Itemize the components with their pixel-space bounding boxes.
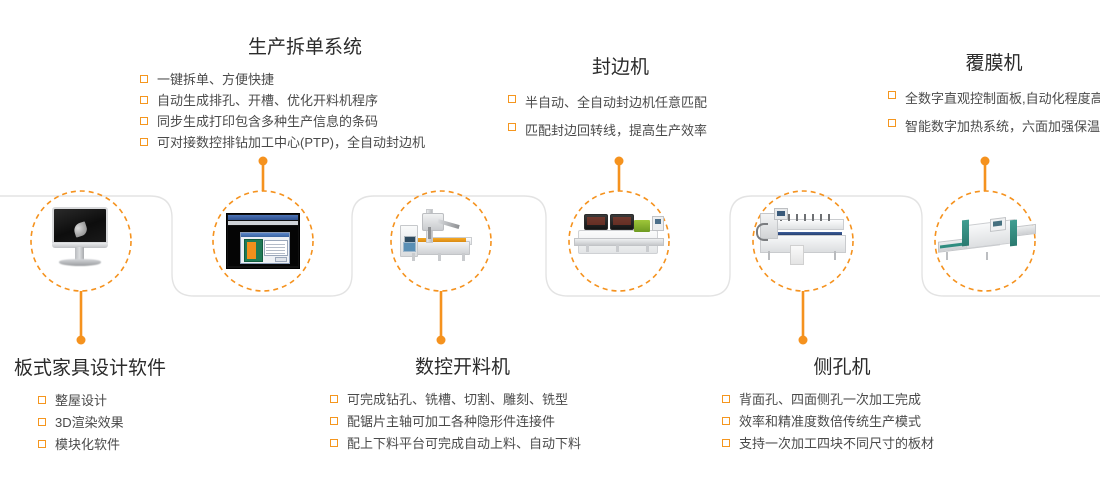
bullet-item: 半自动、全自动封边机任意匹配 xyxy=(508,89,733,117)
dot-side-hole-machine xyxy=(799,336,808,345)
bullet-item: 效率和精准度数倍传统生产模式 xyxy=(722,411,962,433)
node-title-production-splitting-system: 生产拆单系统 xyxy=(140,36,470,60)
checkbox-icon xyxy=(140,117,148,125)
node-title-laminating-machine: 覆膜机 xyxy=(888,52,1100,76)
bullet-text: 全数字直观控制面板,自动化程度高 xyxy=(905,91,1100,106)
bullet-text: 支持一次加工四块不同尺寸的板材 xyxy=(739,436,934,451)
text-block-design-software: 板式家具设计软件 整屋设计 3D渲染效果 模块化软件 xyxy=(14,357,224,456)
bullet-text: 背面孔、四面侧孔一次加工完成 xyxy=(739,392,921,407)
node-stem-group xyxy=(81,163,985,338)
node-circle-side-hole-machine xyxy=(753,191,853,291)
bullet-item: 智能数字加热系统，六面加强保温 xyxy=(888,113,1100,141)
bullet-text: 模块化软件 xyxy=(55,437,120,452)
bullet-item: 可完成钻孔、铣槽、切割、雕刻、铣型 xyxy=(330,389,595,411)
checkbox-icon xyxy=(888,119,896,127)
bullet-item: 整屋设计 xyxy=(38,390,224,412)
imac-computer-photo xyxy=(38,205,124,275)
checkbox-icon xyxy=(888,91,896,99)
checkbox-icon xyxy=(722,395,730,403)
node-circle-cnc-cutting-machine xyxy=(391,191,491,291)
checkbox-icon xyxy=(38,418,46,426)
bullet-text: 配上下料平台可完成自动上料、自动下料 xyxy=(347,436,581,451)
bullet-text: 效率和精准度数倍传统生产模式 xyxy=(739,414,921,429)
bullet-item: 可对接数控排钻加工中心(PTP)，全自动封边机 xyxy=(140,132,470,153)
checkbox-icon xyxy=(330,395,338,403)
checkbox-icon xyxy=(140,75,148,83)
bullet-list-production-splitting-system: 一键拆单、方便快捷 自动生成排孔、开槽、优化开料机程序 同步生成打印包含多种生产… xyxy=(140,69,470,153)
dot-production-splitting-system xyxy=(259,157,268,166)
bullet-list-side-hole-machine: 背面孔、四面侧孔一次加工完成 效率和精准度数倍传统生产模式 支持一次加工四块不同… xyxy=(722,389,962,455)
bullet-text: 整屋设计 xyxy=(55,393,107,408)
bullet-text: 自动生成排孔、开槽、优化开料机程序 xyxy=(157,93,378,108)
bullet-item: 配锯片主轴可加工各种隐形件连接件 xyxy=(330,411,595,433)
checkbox-icon xyxy=(140,138,148,146)
node-circle-edge-banding-machine xyxy=(569,191,669,291)
node-circle-production-splitting-system xyxy=(213,191,313,291)
side-drilling-machine-photo xyxy=(756,205,850,271)
bullet-list-design-software: 整屋设计 3D渲染效果 模块化软件 xyxy=(14,390,224,456)
checkbox-icon xyxy=(140,96,148,104)
bullet-item: 模块化软件 xyxy=(38,434,224,456)
edge-bander-photo xyxy=(572,210,666,264)
bullet-text: 智能数字加热系统，六面加强保温 xyxy=(905,119,1100,134)
bullet-text: 配锯片主轴可加工各种隐形件连接件 xyxy=(347,414,555,429)
laminating-machine-photo xyxy=(936,208,1036,268)
node-circle-laminating-machine xyxy=(935,191,1035,291)
bullet-item: 支持一次加工四块不同尺寸的板材 xyxy=(722,433,962,455)
text-block-production-splitting-system: 生产拆单系统 一键拆单、方便快捷 自动生成排孔、开槽、优化开料机程序 同步生成打… xyxy=(140,36,470,153)
bullet-text: 可对接数控排钻加工中心(PTP)，全自动封边机 xyxy=(157,135,425,150)
text-block-cnc-cutting-machine: 数控开料机 可完成钻孔、铣槽、切割、雕刻、铣型 配锯片主轴可加工各种隐形件连接件… xyxy=(330,356,595,455)
node-circle-design-software xyxy=(31,191,131,291)
software-screenshot-photo xyxy=(226,213,300,269)
bridge-path xyxy=(0,196,1100,296)
node-dot-group xyxy=(77,157,990,345)
checkbox-icon xyxy=(722,417,730,425)
bullet-text: 3D渲染效果 xyxy=(55,415,124,430)
node-circle-group xyxy=(31,191,1035,291)
bullet-item: 一键拆单、方便快捷 xyxy=(140,69,470,90)
bullet-text: 一键拆单、方便快捷 xyxy=(157,72,274,87)
checkbox-icon xyxy=(38,396,46,404)
bullet-item: 配上下料平台可完成自动上料、自动下料 xyxy=(330,433,595,455)
bridge-path-group xyxy=(0,196,1100,296)
checkbox-icon xyxy=(722,439,730,447)
checkbox-icon xyxy=(38,440,46,448)
infographic-canvas: 生产拆单系统 一键拆单、方便快捷 自动生成排孔、开槽、优化开料机程序 同步生成打… xyxy=(0,0,1100,495)
bullet-text: 半自动、全自动封边机任意匹配 xyxy=(525,95,707,110)
dot-edge-banding-machine xyxy=(615,157,624,166)
dot-laminating-machine xyxy=(981,157,990,166)
bullet-item: 匹配封边回转线，提高生产效率 xyxy=(508,117,733,145)
checkbox-icon xyxy=(508,123,516,131)
text-block-edge-banding-machine: 封边机 半自动、全自动封边机任意匹配 匹配封边回转线，提高生产效率 xyxy=(508,56,733,145)
bullet-item: 背面孔、四面侧孔一次加工完成 xyxy=(722,389,962,411)
checkbox-icon xyxy=(330,417,338,425)
dot-design-software xyxy=(77,336,86,345)
cnc-router-photo xyxy=(398,207,484,271)
bullet-item: 同步生成打印包含多种生产信息的条码 xyxy=(140,111,470,132)
node-title-cnc-cutting-machine: 数控开料机 xyxy=(330,356,595,380)
node-title-side-hole-machine: 侧孔机 xyxy=(722,356,962,380)
bullet-item: 3D渲染效果 xyxy=(38,412,224,434)
checkbox-icon xyxy=(508,95,516,103)
node-title-design-software: 板式家具设计软件 xyxy=(14,357,224,381)
text-block-laminating-machine: 覆膜机 全数字直观控制面板,自动化程度高 智能数字加热系统，六面加强保温 xyxy=(888,52,1100,141)
bullet-list-laminating-machine: 全数字直观控制面板,自动化程度高 智能数字加热系统，六面加强保温 xyxy=(888,85,1100,141)
text-block-side-hole-machine: 侧孔机 背面孔、四面侧孔一次加工完成 效率和精准度数倍传统生产模式 支持一次加工… xyxy=(722,356,962,455)
bullet-list-edge-banding-machine: 半自动、全自动封边机任意匹配 匹配封边回转线，提高生产效率 xyxy=(508,89,733,145)
checkbox-icon xyxy=(330,439,338,447)
dot-cnc-cutting-machine xyxy=(437,336,446,345)
bullet-list-cnc-cutting-machine: 可完成钻孔、铣槽、切割、雕刻、铣型 配锯片主轴可加工各种隐形件连接件 配上下料平… xyxy=(330,389,595,455)
bullet-item: 全数字直观控制面板,自动化程度高 xyxy=(888,85,1100,113)
bullet-text: 可完成钻孔、铣槽、切割、雕刻、铣型 xyxy=(347,392,568,407)
bullet-text: 同步生成打印包含多种生产信息的条码 xyxy=(157,114,378,129)
bullet-text: 匹配封边回转线，提高生产效率 xyxy=(525,123,707,138)
bullet-item: 自动生成排孔、开槽、优化开料机程序 xyxy=(140,90,470,111)
node-title-edge-banding-machine: 封边机 xyxy=(508,56,733,80)
